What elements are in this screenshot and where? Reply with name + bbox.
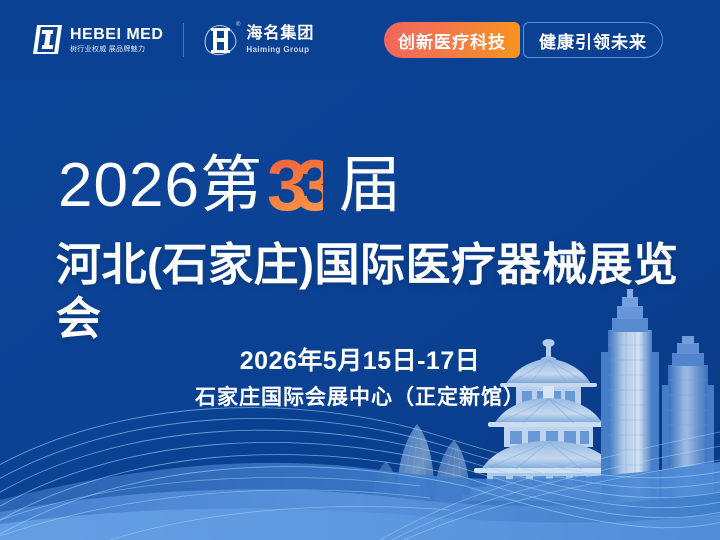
edition-line: 2026 第 33 届 bbox=[58, 146, 401, 218]
hebei-med-tagline: 树行业权威 展品牌魅力 bbox=[70, 45, 163, 55]
edition-prefix: 第 bbox=[200, 150, 263, 222]
slogan-left-text: 创新医疗科技 bbox=[384, 22, 520, 58]
poster-canvas: HEBEI MED 树行业权威 展品牌魅力 ® 海名集团 bbox=[0, 0, 720, 540]
slogan-badge[interactable]: 创新医疗科技 健康引领未来 bbox=[384, 22, 663, 58]
event-date: 2026年5月15日-17日 bbox=[0, 346, 720, 376]
registered-mark-icon: ® bbox=[236, 22, 240, 28]
edition-year: 2026 bbox=[58, 150, 200, 222]
haiming-group-name-cn: 海名集团 bbox=[246, 25, 314, 43]
hebei-med-logo-icon bbox=[34, 24, 63, 56]
edition-suffix: 届 bbox=[339, 150, 401, 222]
haiming-group-name-en: Haiming Group bbox=[246, 44, 314, 55]
main-content: 2026 第 33 届 河北(石家庄)国际医疗器械展览会 2026年5月15日-… bbox=[0, 0, 720, 540]
haiming-group-logo-icon: ® bbox=[204, 22, 238, 58]
slogan-right-text: 健康引领未来 bbox=[523, 22, 663, 58]
haiming-group-text: 海名集团 Haiming Group bbox=[246, 25, 314, 55]
hebei-med-name: HEBEI MED bbox=[70, 26, 163, 43]
logo-zone: HEBEI MED 树行业权威 展品牌魅力 ® 海名集团 bbox=[34, 22, 314, 58]
hebei-med-logo[interactable]: HEBEI MED 树行业权威 展品牌魅力 bbox=[34, 24, 163, 56]
page-title: 河北(石家庄)国际医疗器械展览会 bbox=[56, 238, 720, 346]
logo-divider bbox=[183, 23, 184, 57]
haiming-group-logo[interactable]: ® 海名集团 Haiming Group bbox=[204, 22, 314, 58]
event-venue: 石家庄国际会展中心（正定新馆） bbox=[0, 385, 720, 411]
hebei-med-text: HEBEI MED 树行业权威 展品牌魅力 bbox=[70, 26, 163, 55]
edition-number: 33 bbox=[267, 150, 323, 222]
